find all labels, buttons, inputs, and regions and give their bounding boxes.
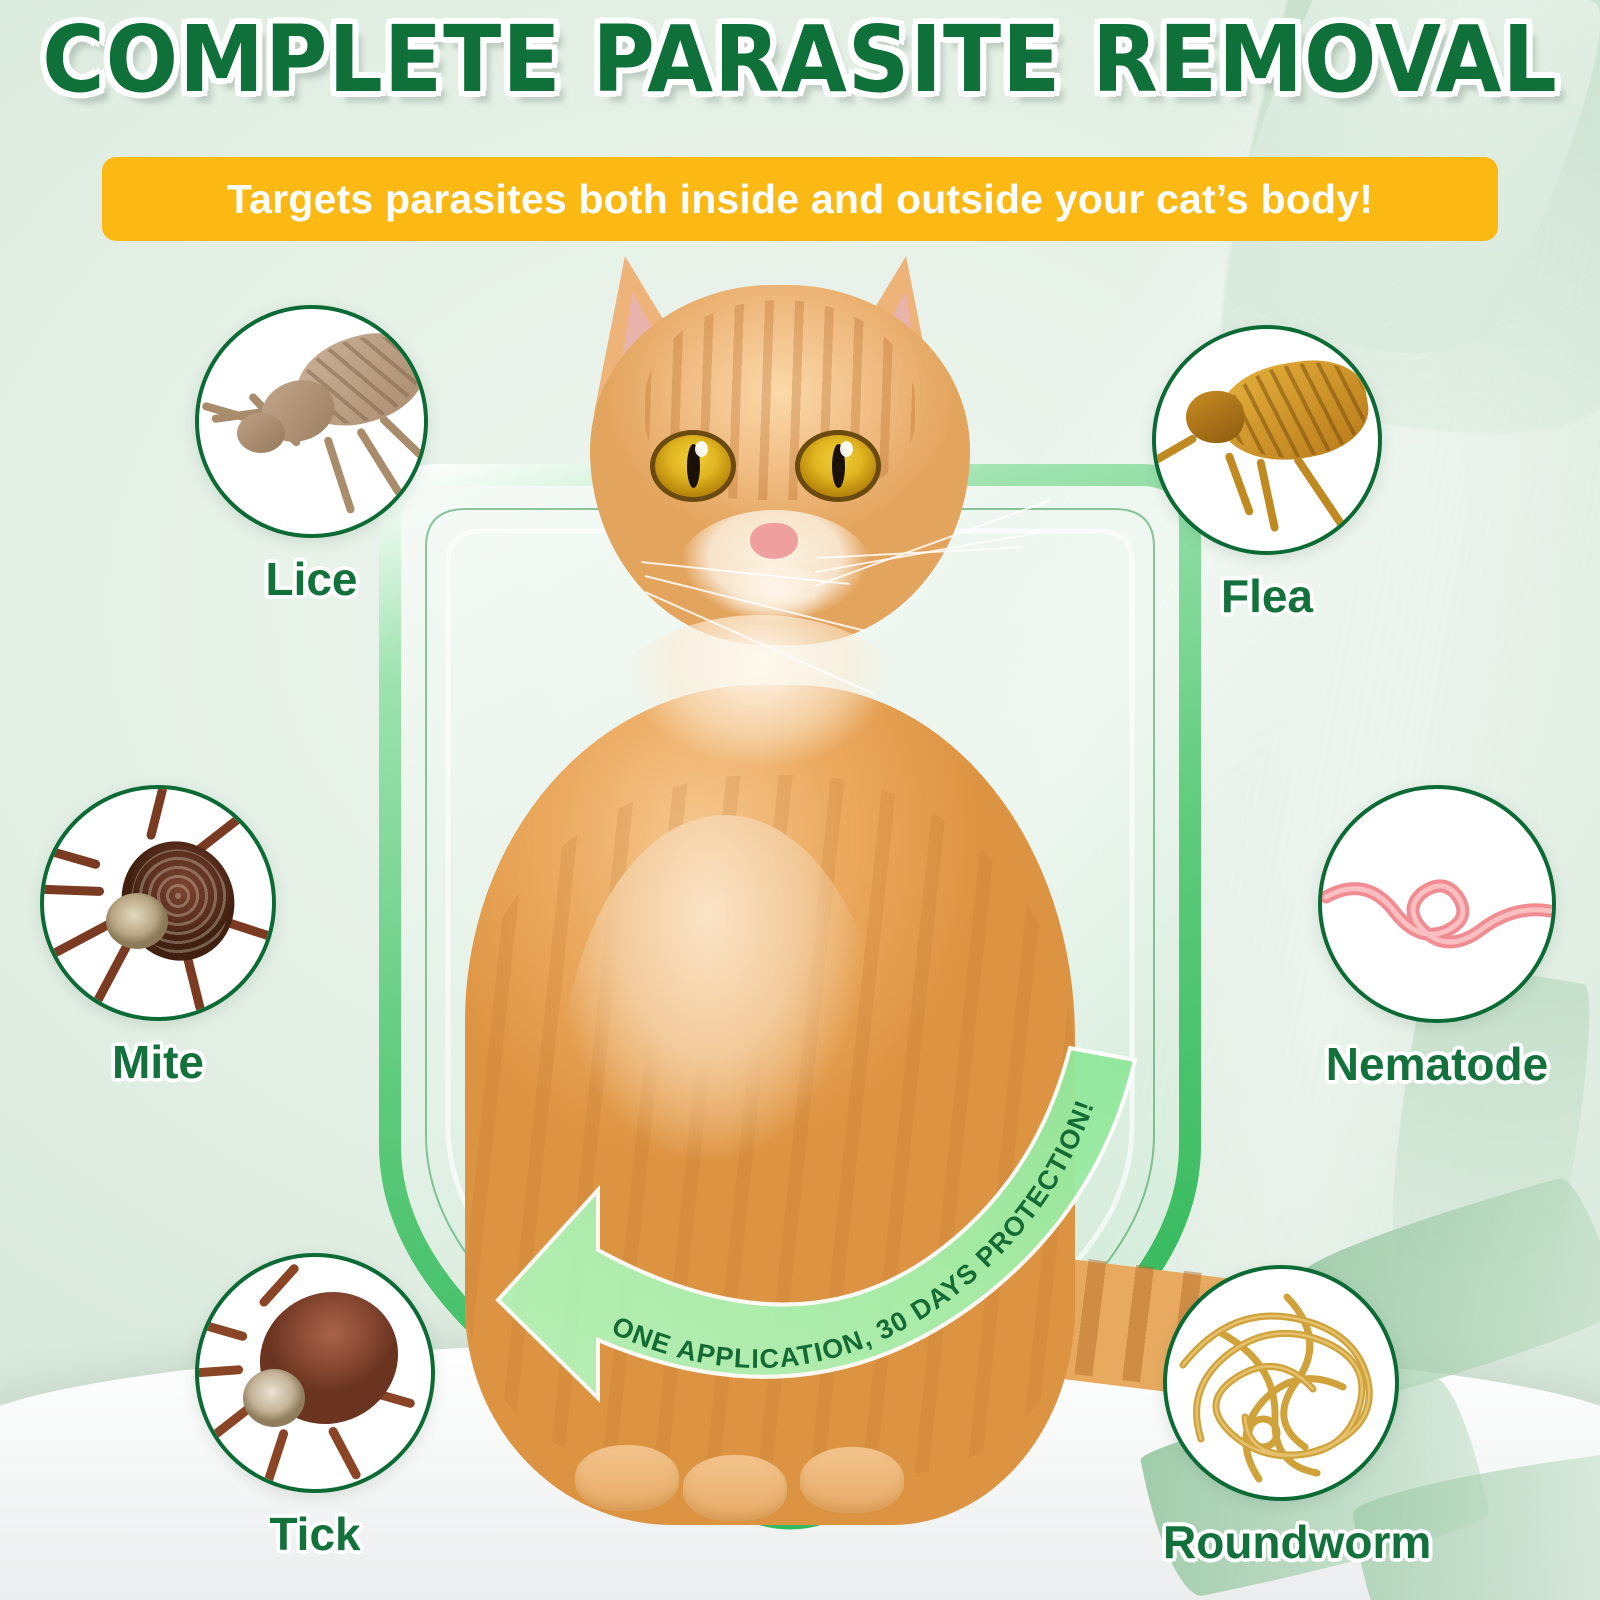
- infographic-canvas: ONE APPLICATION, 30 DAYS PROTECTION! Lic…: [0, 0, 1600, 1600]
- protection-arrow: ONE APPLICATION, 30 DAYS PROTECTION!: [480, 1000, 1200, 1420]
- parasite-badge-roundworm[interactable]: Roundworm: [1163, 1265, 1431, 1569]
- cat-bib: [595, 615, 925, 835]
- cat-paw: [575, 1445, 679, 1511]
- parasite-label-nematode: Nematode: [1318, 1037, 1556, 1091]
- page-title: COMPLETE PARASITE REMOVAL: [0, 14, 1600, 106]
- subtitle-banner: Targets parasites both inside and outsid…: [102, 157, 1498, 241]
- cat-paw: [800, 1447, 904, 1513]
- parasite-label-tick: Tick: [195, 1507, 435, 1561]
- tick-icon: [195, 1253, 435, 1493]
- cat-eye-glint-left: [695, 441, 708, 457]
- parasite-badge-flea[interactable]: Flea: [1152, 325, 1382, 623]
- cat-paw: [683, 1455, 787, 1521]
- parasite-badge-tick[interactable]: Tick: [195, 1253, 435, 1561]
- parasite-badge-mite[interactable]: Mite: [40, 785, 276, 1089]
- parasite-label-mite: Mite: [40, 1035, 276, 1089]
- cat-nose: [750, 523, 798, 559]
- louse-icon: [195, 305, 428, 538]
- roundworm-icon: [1163, 1265, 1399, 1501]
- subtitle-text: Targets parasites both inside and outsid…: [227, 176, 1373, 223]
- parasite-badge-nematode[interactable]: Nematode: [1318, 785, 1556, 1091]
- flea-icon: [1152, 325, 1382, 555]
- parasite-label-lice: Lice: [195, 552, 428, 606]
- parasite-label-roundworm: Roundworm: [1163, 1515, 1431, 1569]
- parasite-badge-lice[interactable]: Lice: [195, 305, 428, 606]
- parasite-label-flea: Flea: [1152, 569, 1382, 623]
- cat-eye-glint-right: [840, 441, 853, 457]
- mite-icon: [40, 785, 276, 1021]
- nematode-icon: [1318, 785, 1556, 1023]
